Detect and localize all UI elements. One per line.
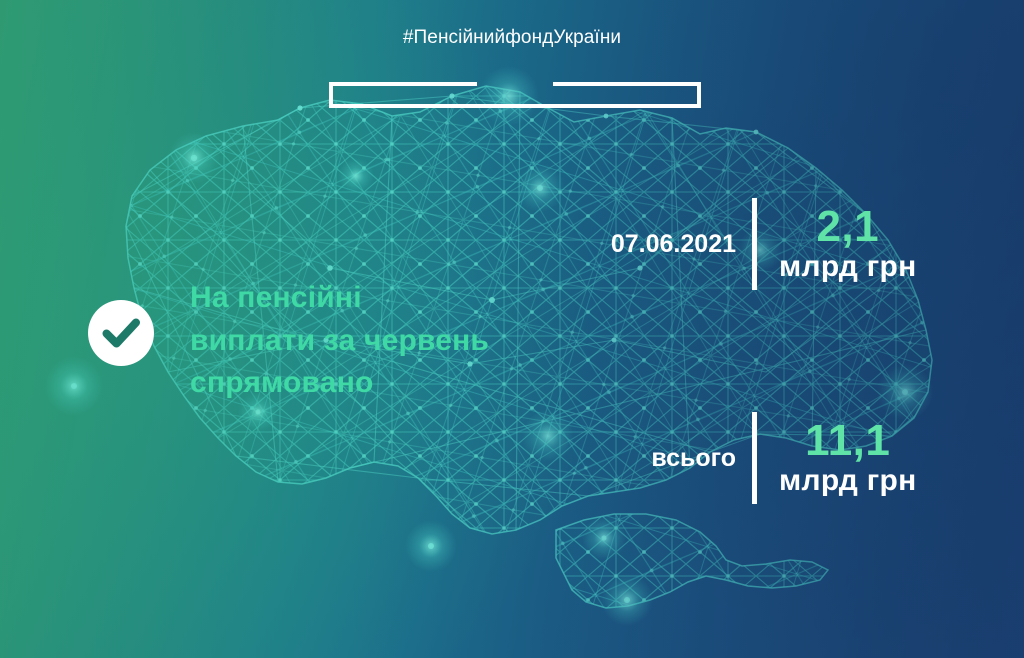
headline-line-1: На пенсійні [190, 277, 590, 320]
stat-value-amount: 11,1 [779, 419, 917, 464]
stat-label-total: всього [604, 444, 736, 473]
decorative-frame [329, 82, 701, 108]
headline-line-3: спрямовано [190, 362, 590, 405]
stat-block-total: всього 11,1 млрд грн [604, 412, 917, 504]
stat-label-date: 07.06.2021 [604, 230, 736, 259]
frame-bottom-edge [329, 104, 701, 108]
stat-value-unit: млрд грн [779, 466, 917, 497]
hashtag-label: #ПенсійнийфондУкраїни [0, 27, 1024, 49]
stat-value-amount: 2,1 [779, 205, 917, 250]
infographic-poster: #ПенсійнийфондУкраїни На пенсійні виплат… [0, 0, 1024, 658]
headline: На пенсійні виплати за червень спрямован… [190, 277, 590, 405]
frame-top-left-edge [329, 82, 477, 86]
frame-top-right-edge [553, 82, 701, 86]
stat-block-date: 07.06.2021 2,1 млрд грн [604, 198, 917, 290]
stat-value-group: 11,1 млрд грн [779, 419, 917, 496]
check-circle-icon [88, 300, 154, 366]
stat-divider-rule [752, 412, 757, 504]
headline-line-2: виплати за червень [190, 320, 590, 363]
stat-value-group: 2,1 млрд грн [779, 205, 917, 282]
stat-divider-rule [752, 198, 757, 290]
stat-value-unit: млрд грн [779, 252, 917, 283]
